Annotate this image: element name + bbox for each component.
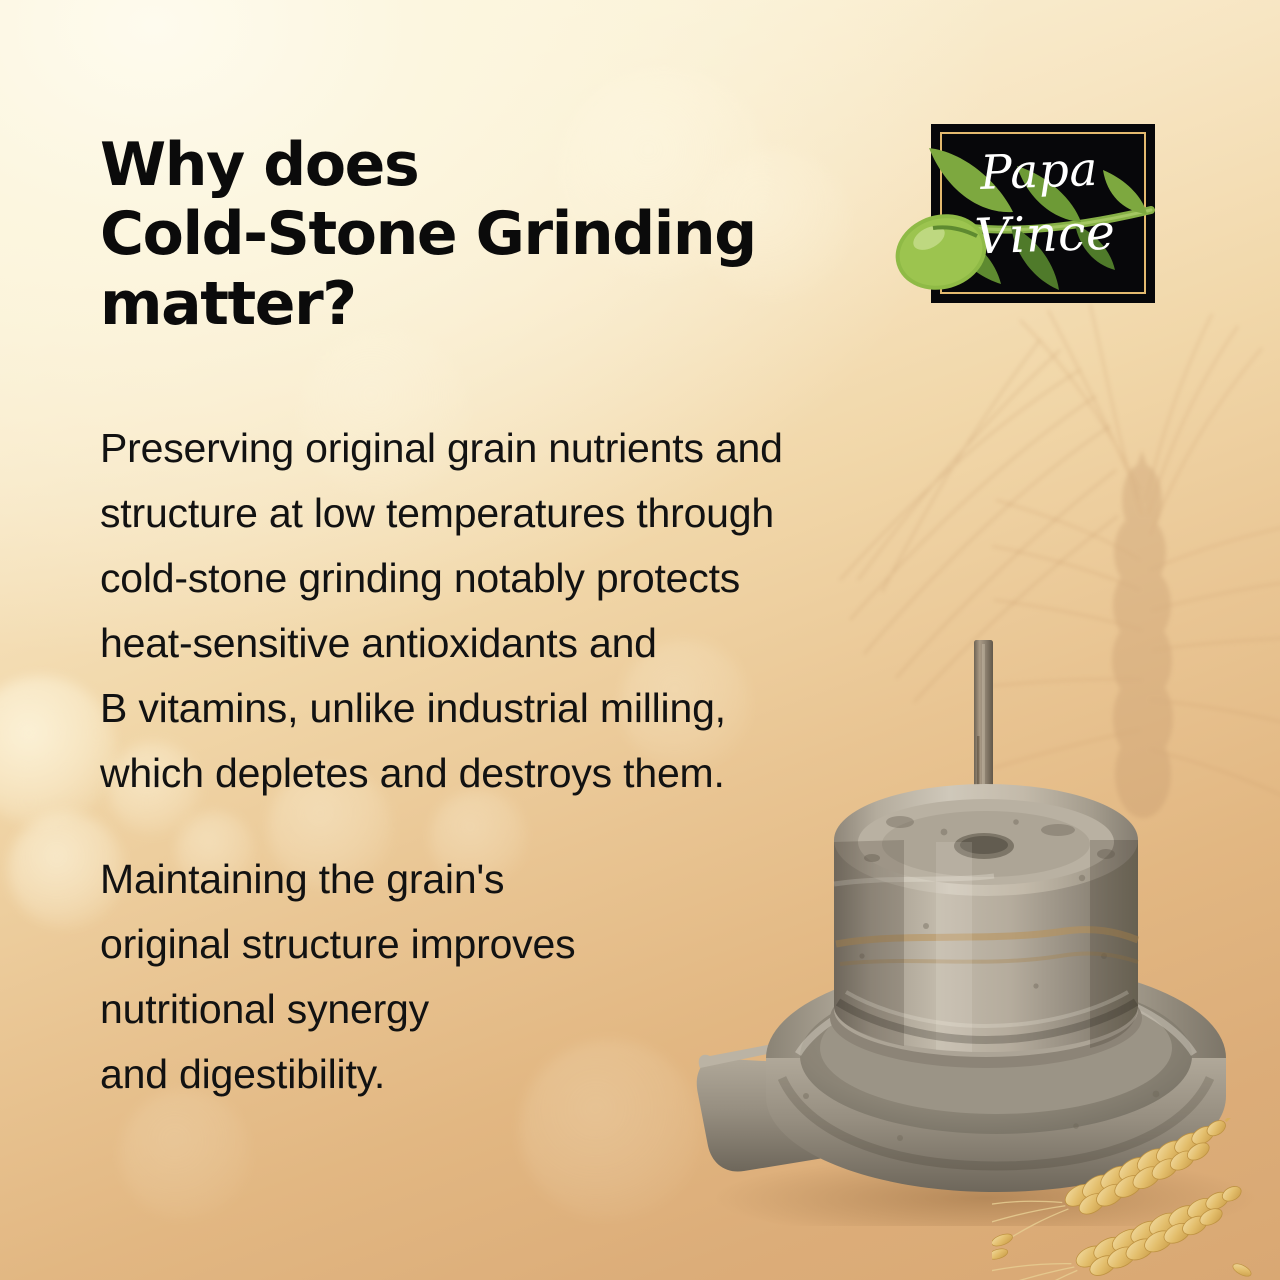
- poster-canvas: Why does Cold-Stone Grinding matter? Pre…: [0, 0, 1280, 1280]
- paragraph-one-line-1: Preserving original grain nutrients and: [100, 416, 1030, 481]
- brand-logo[interactable]: Papa Vince: [931, 124, 1155, 303]
- olive-branch-icon: [889, 118, 1155, 314]
- page-headline: Why does Cold-Stone Grinding matter?: [100, 131, 890, 339]
- paragraph-one-line-3: cold-stone grinding notably protects: [100, 546, 1030, 611]
- olive-fruit-icon: [889, 204, 995, 300]
- headline-line-2: Cold-Stone Grinding: [100, 200, 890, 269]
- bokeh-light-circles: [0, 676, 116, 826]
- wheat-ears-foreground: [992, 1118, 1280, 1280]
- headline-line-3: matter?: [100, 270, 890, 339]
- paragraph-one-line-2: structure at low temperatures through: [100, 481, 1030, 546]
- headline-line-1: Why does: [100, 131, 890, 200]
- bokeh-light-circles: [120, 1090, 250, 1220]
